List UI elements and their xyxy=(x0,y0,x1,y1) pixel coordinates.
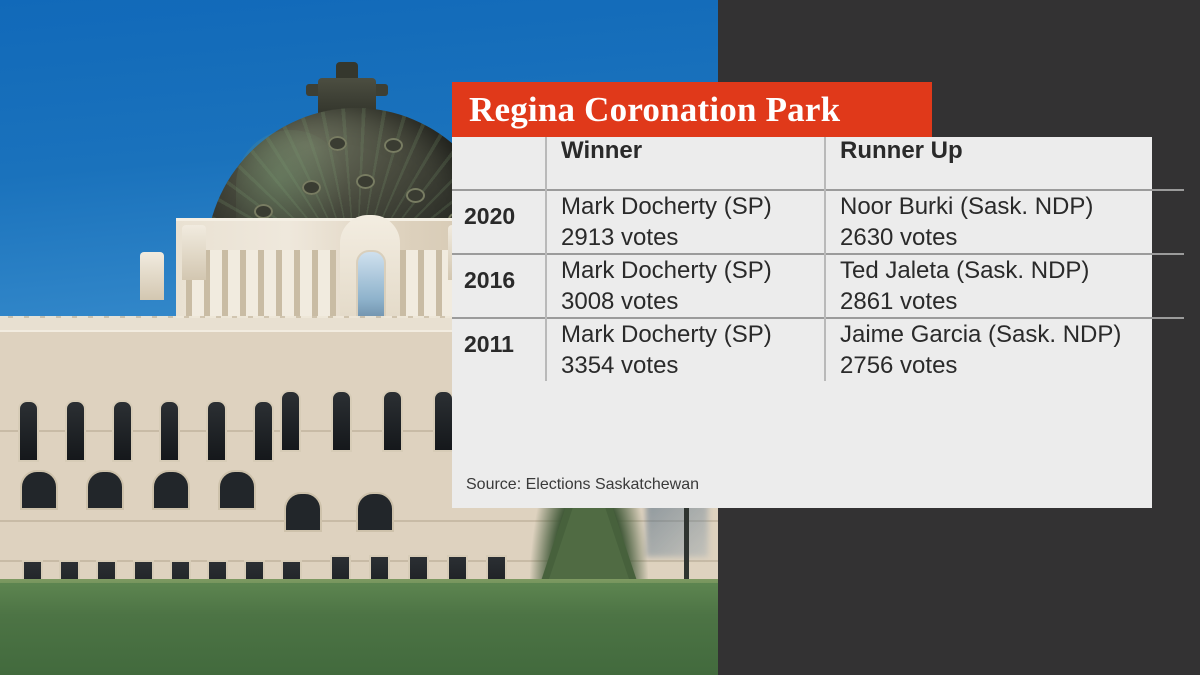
table-row: 2016 Mark Docherty (SP) 3008 votes Ted J… xyxy=(452,254,1184,318)
cell-year: 2016 xyxy=(452,254,546,318)
cell-year: 2020 xyxy=(452,190,546,254)
pavilion-turret xyxy=(140,252,164,300)
arched-window xyxy=(20,470,58,510)
arched-window xyxy=(356,492,394,532)
runner-name: Jaime Garcia (Sask. NDP) xyxy=(840,321,1121,348)
window xyxy=(433,390,454,452)
cell-winner: Mark Docherty (SP) 3354 votes xyxy=(546,318,825,381)
window xyxy=(280,390,301,452)
pavilion-turret xyxy=(182,225,206,280)
winner-votes: 2913 votes xyxy=(561,222,824,253)
card-title: Regina Coronation Park xyxy=(452,82,932,137)
dome-oculus xyxy=(254,204,273,219)
window xyxy=(18,400,39,462)
runner-name: Noor Burki (Sask. NDP) xyxy=(840,193,1093,220)
election-results-table: Winner Runner Up 2020 Mark Docherty (SP)… xyxy=(452,137,1184,381)
dome-oculus xyxy=(356,174,375,189)
winner-name: Mark Docherty (SP) xyxy=(561,257,772,284)
arched-window xyxy=(218,470,256,510)
arched-window xyxy=(152,470,190,510)
cell-runner-up: Noor Burki (Sask. NDP) 2630 votes xyxy=(825,190,1184,254)
window-row-arched xyxy=(20,470,256,510)
cell-year: 2011 xyxy=(452,318,546,381)
table-header: Winner Runner Up xyxy=(452,137,1184,190)
table-body: 2020 Mark Docherty (SP) 2913 votes Noor … xyxy=(452,190,1184,381)
table-row: 2020 Mark Docherty (SP) 2913 votes Noor … xyxy=(452,190,1184,254)
runner-votes: 2756 votes xyxy=(840,350,1184,381)
table-row: 2011 Mark Docherty (SP) 3354 votes Jaime… xyxy=(452,318,1184,381)
dome-oculus xyxy=(406,188,425,203)
column-header-year xyxy=(452,137,546,190)
window xyxy=(112,400,133,462)
winner-name: Mark Docherty (SP) xyxy=(561,193,772,220)
column-header-winner: Winner xyxy=(546,137,825,190)
window xyxy=(159,400,180,462)
cell-runner-up: Jaime Garcia (Sask. NDP) 2756 votes xyxy=(825,318,1184,381)
window xyxy=(382,390,403,452)
window-row-arched-right xyxy=(284,492,394,532)
runner-votes: 2630 votes xyxy=(840,222,1184,253)
info-card: Regina Coronation Park Winner Runner Up … xyxy=(452,82,1152,508)
cell-winner: Mark Docherty (SP) 2913 votes xyxy=(546,190,825,254)
dome-oculus xyxy=(328,136,347,151)
window xyxy=(206,400,227,462)
table-header-row: Winner Runner Up xyxy=(452,137,1184,190)
card-body: Winner Runner Up 2020 Mark Docherty (SP)… xyxy=(452,137,1152,508)
runner-votes: 2861 votes xyxy=(840,286,1184,317)
winner-votes: 3008 votes xyxy=(561,286,824,317)
arched-window xyxy=(86,470,124,510)
winner-votes: 3354 votes xyxy=(561,350,824,381)
lawn xyxy=(0,583,718,675)
window-row-upper xyxy=(18,400,274,462)
window xyxy=(331,390,352,452)
source-attribution: Source: Elections Saskatchewan xyxy=(466,476,699,494)
news-graphic: Regina Coronation Park Winner Runner Up … xyxy=(0,0,1200,675)
cell-winner: Mark Docherty (SP) 3008 votes xyxy=(546,254,825,318)
window xyxy=(253,400,274,462)
arched-window xyxy=(284,492,322,532)
dome-oculus xyxy=(302,180,321,195)
winner-name: Mark Docherty (SP) xyxy=(561,321,772,348)
window xyxy=(65,400,86,462)
runner-name: Ted Jaleta (Sask. NDP) xyxy=(840,257,1089,284)
column-header-runner-up: Runner Up xyxy=(825,137,1184,190)
cell-runner-up: Ted Jaleta (Sask. NDP) 2861 votes xyxy=(825,254,1184,318)
dome-oculus xyxy=(384,138,403,153)
